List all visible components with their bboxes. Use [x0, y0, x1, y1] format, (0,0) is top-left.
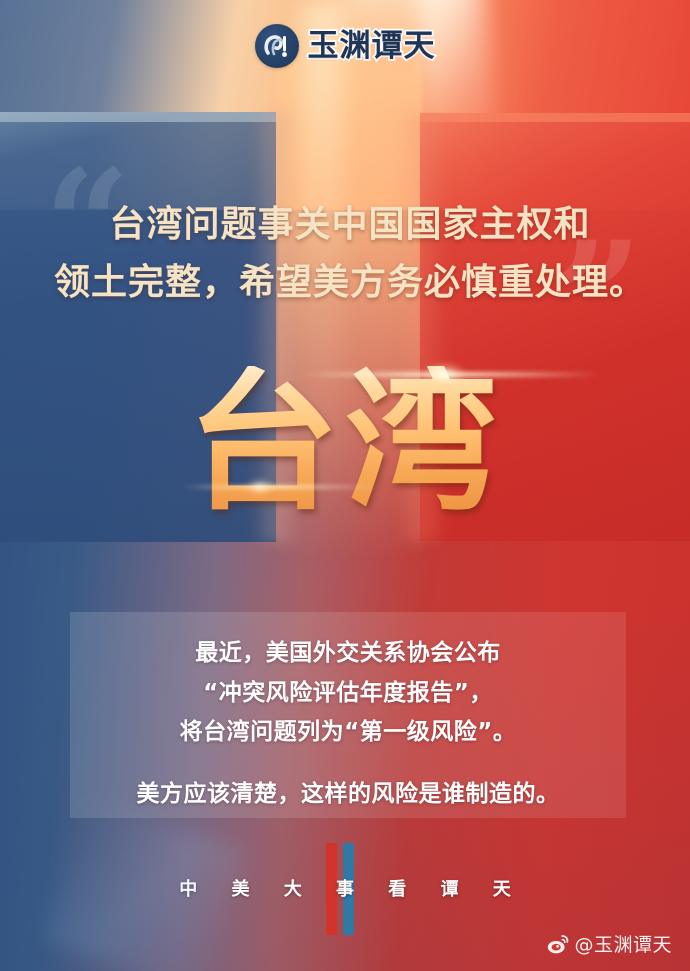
body-line: 最近，美国外交关系协会公布 — [70, 634, 626, 674]
red-panel-top-edge — [420, 113, 690, 122]
weibo-watermark: @玉渊谭天 — [547, 930, 672, 957]
weibo-handle: @玉渊谭天 — [574, 930, 672, 957]
yuyuantantian-emblem-icon — [255, 24, 299, 68]
brand-logo-text: 玉渊谭天 — [308, 31, 436, 62]
brand-logo: 玉渊谭天 — [0, 20, 690, 72]
body-line: 美方应该清楚，这样的风险是谁制造的。 — [70, 775, 626, 815]
headline-quote: 台湾问题事关中国国家主权和 领土完整，希望美方务必慎重处理。 — [40, 196, 660, 313]
title-flare-lower-core — [246, 479, 274, 495]
title-flare-upper-core — [425, 363, 465, 385]
headline-quote-line: 台湾问题事关中国国家主权和 — [40, 196, 660, 254]
weibo-eye-icon — [547, 934, 569, 954]
body-text-block: 最近，美国外交关系协会公布 “冲突风险评估年度报告”， 将台湾问题列为“第一级风… — [70, 612, 626, 814]
hero-title: 台湾 — [0, 352, 690, 532]
title-flare-lower — [180, 485, 380, 489]
bottom-light-streak — [41, 797, 249, 971]
blue-panel-top-edge — [0, 112, 276, 122]
headline-quote-line: 领土完整，希望美方务必慎重处理。 — [40, 254, 660, 312]
hero-title-text: 台湾 — [187, 366, 503, 518]
poster-canvas: 玉渊谭天 “ ” 台湾问题事关中国国家主权和 领土完整，希望美方务必慎重处理。 … — [0, 0, 690, 971]
body-line: 将台湾问题列为“第一级风险”。 — [70, 713, 626, 753]
body-line: “冲突风险评估年度报告”， — [70, 674, 626, 714]
